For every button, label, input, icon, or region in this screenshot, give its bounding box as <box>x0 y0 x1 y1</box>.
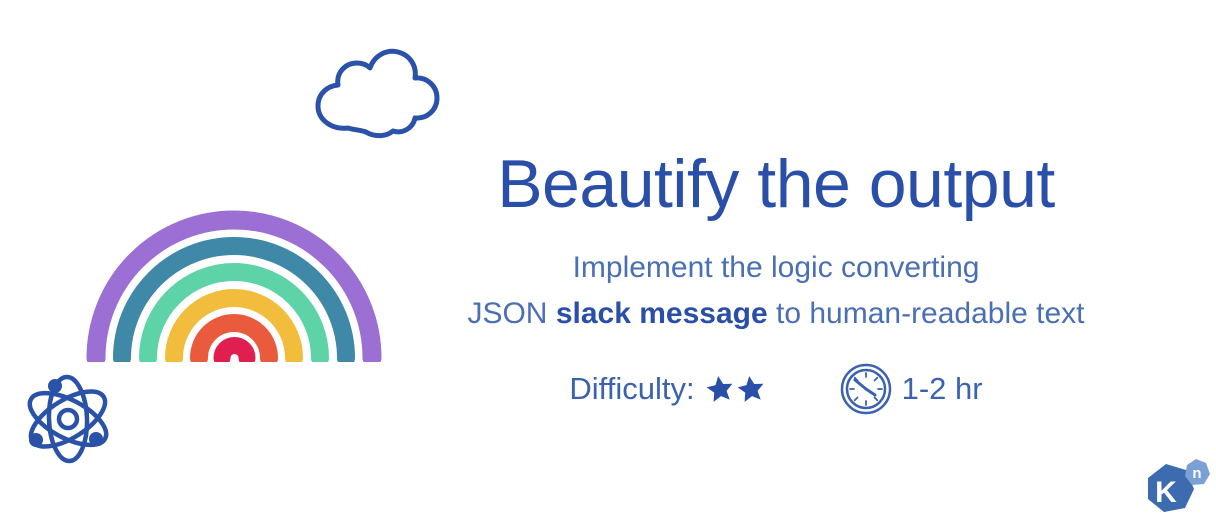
cloud-icon <box>300 40 450 140</box>
subtitle-emphasis: slack message <box>556 297 768 330</box>
slide-subtitle: Implement the logic converting JSON slac… <box>396 245 1156 336</box>
logo-badge-letter: n <box>1192 465 1201 482</box>
star-icon <box>705 374 735 404</box>
duration-group: 1-2 hr <box>840 363 983 415</box>
subtitle-line-1: Implement the logic converting <box>396 245 1156 291</box>
subtitle-line-2: JSON slack message to human-readable tex… <box>396 291 1156 337</box>
slide-canvas: K n Beautify the output Implement the lo… <box>0 0 1216 532</box>
subtitle-prefix: JSON <box>467 297 555 330</box>
meta-row: Difficulty: <box>396 363 1156 415</box>
logo-primary-letter: K <box>1155 476 1177 509</box>
clock-icon <box>840 363 892 415</box>
atom-icon <box>18 370 118 468</box>
difficulty-label: Difficulty: <box>569 371 694 407</box>
difficulty-group: Difficulty: <box>569 371 765 407</box>
subtitle-suffix: to human-readable text <box>768 297 1085 330</box>
star-icon <box>736 374 766 404</box>
duration-label: 1-2 hr <box>902 371 983 407</box>
rainbow-icon <box>84 186 384 362</box>
difficulty-stars <box>705 374 766 404</box>
kn-logo-icon: K n <box>1136 456 1212 524</box>
slide-content: Beautify the output Implement the logic … <box>396 150 1156 415</box>
page-title: Beautify the output <box>396 150 1156 219</box>
